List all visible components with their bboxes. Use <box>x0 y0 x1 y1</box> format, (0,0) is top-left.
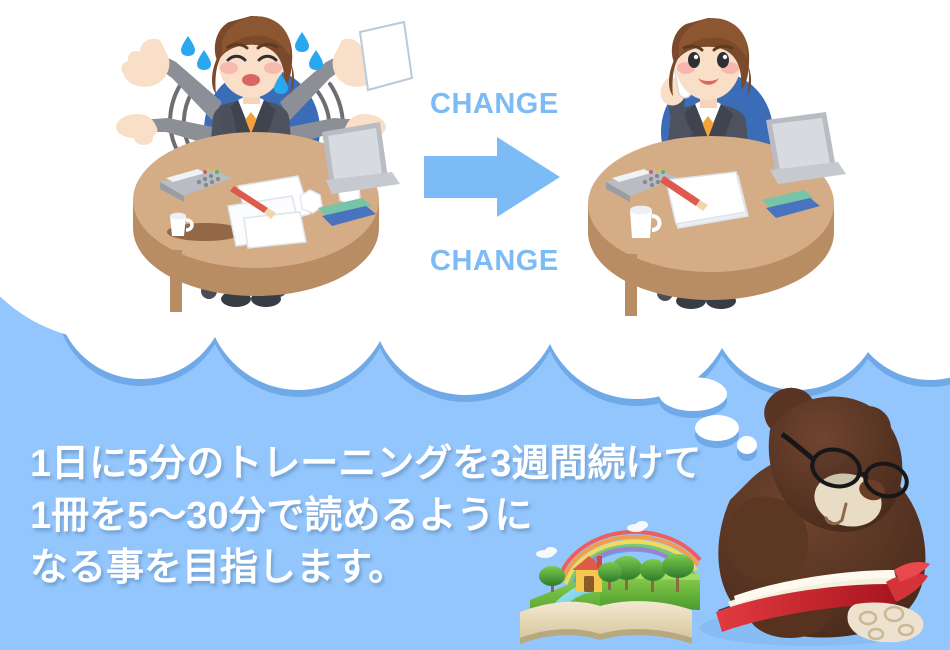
book-pages <box>520 601 692 644</box>
headline-text: 1日に5分のトレーニングを3週間続けて 1冊を5〜30分で読めるように なる事を… <box>30 438 701 594</box>
headline-line-1: 1日に5分のトレーニングを3週間続けて <box>30 438 701 490</box>
headline-line-2: 1冊を5〜30分で読めるように <box>30 490 701 542</box>
headline-line-3: なる事を目指します。 <box>30 542 701 594</box>
poster-canvas: CHANGE CHANGE 1日に5分のトレーニングを3週間続けて 1冊を5〜3… <box>0 0 950 650</box>
